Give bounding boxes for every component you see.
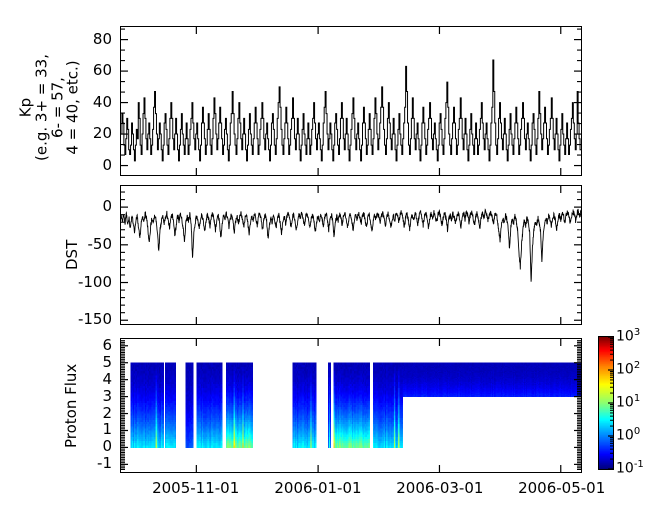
x-axis-tick-3: 2006-05-01 <box>502 479 622 497</box>
colorbar-tick-0: 103 <box>616 327 640 345</box>
proton-flux-panel-ytick-5: 4 <box>46 370 112 388</box>
kp-panel <box>120 26 582 176</box>
colorbar-tick-exponent-4: -1 <box>634 459 644 470</box>
kp-panel-ytick-1: 20 <box>46 124 112 142</box>
kp-plot-area <box>121 27 581 175</box>
proton-flux-panel-ytick-4: 3 <box>46 387 112 405</box>
x-axis-tick-1: 2006-01-01 <box>258 479 378 497</box>
colorbar-tick-3: 100 <box>616 426 640 444</box>
x-axis-tick-2: 2006-03-01 <box>380 479 500 497</box>
dst-panel <box>120 185 582 325</box>
proton-flux-panel-ytick-7: 6 <box>46 336 112 354</box>
proton-flux-panel-ytick-3: 2 <box>46 404 112 422</box>
colorbar-tick-4: 10-1 <box>616 459 644 477</box>
proton-flux-plot-area <box>121 339 581 472</box>
colorbar-tick-1: 102 <box>616 360 640 378</box>
colorbar-tick-mantissa-0: 10 <box>616 329 634 345</box>
dst-panel-ytick-2: -100 <box>46 273 112 291</box>
proton-flux-panel-ytick-6: 5 <box>46 353 112 371</box>
figure-canvas: Kp (e.g. 3+ = 33, 6- = 57, 4 = 40, etc.)… <box>0 0 665 523</box>
flux-colorbar <box>598 336 614 470</box>
colorbar-gradient <box>599 337 613 469</box>
kp-panel-ytick-4: 80 <box>46 30 112 48</box>
kp-panel-ytick-3: 60 <box>46 61 112 79</box>
colorbar-tick-mantissa-2: 10 <box>616 395 634 411</box>
colorbar-tick-mantissa-1: 10 <box>616 362 634 378</box>
proton-flux-panel <box>120 338 582 473</box>
colorbar-tick-mantissa-3: 10 <box>616 428 634 444</box>
kp-panel-ytick-0: 0 <box>46 156 112 174</box>
colorbar-tick-2: 101 <box>616 393 640 411</box>
dst-panel-ytick-0: 0 <box>46 197 112 215</box>
x-axis-tick-0: 2005-11-01 <box>136 479 256 497</box>
colorbar-tick-exponent-0: 3 <box>634 327 640 338</box>
colorbar-tick-exponent-2: 1 <box>634 393 640 404</box>
proton-flux-panel-ytick-0: -1 <box>46 454 112 472</box>
dst-panel-ytick-3: -150 <box>46 310 112 328</box>
proton-flux-panel-ytick-1: 0 <box>46 437 112 455</box>
proton-flux-panel-ytick-2: 1 <box>46 420 112 438</box>
colorbar-tick-exponent-1: 2 <box>634 360 640 371</box>
dst-panel-ytick-1: -50 <box>46 235 112 253</box>
dst-plot-area <box>121 186 581 324</box>
colorbar-tick-exponent-3: 0 <box>634 426 640 437</box>
kp-panel-ytick-2: 40 <box>46 93 112 111</box>
colorbar-tick-mantissa-4: 10 <box>616 461 634 477</box>
